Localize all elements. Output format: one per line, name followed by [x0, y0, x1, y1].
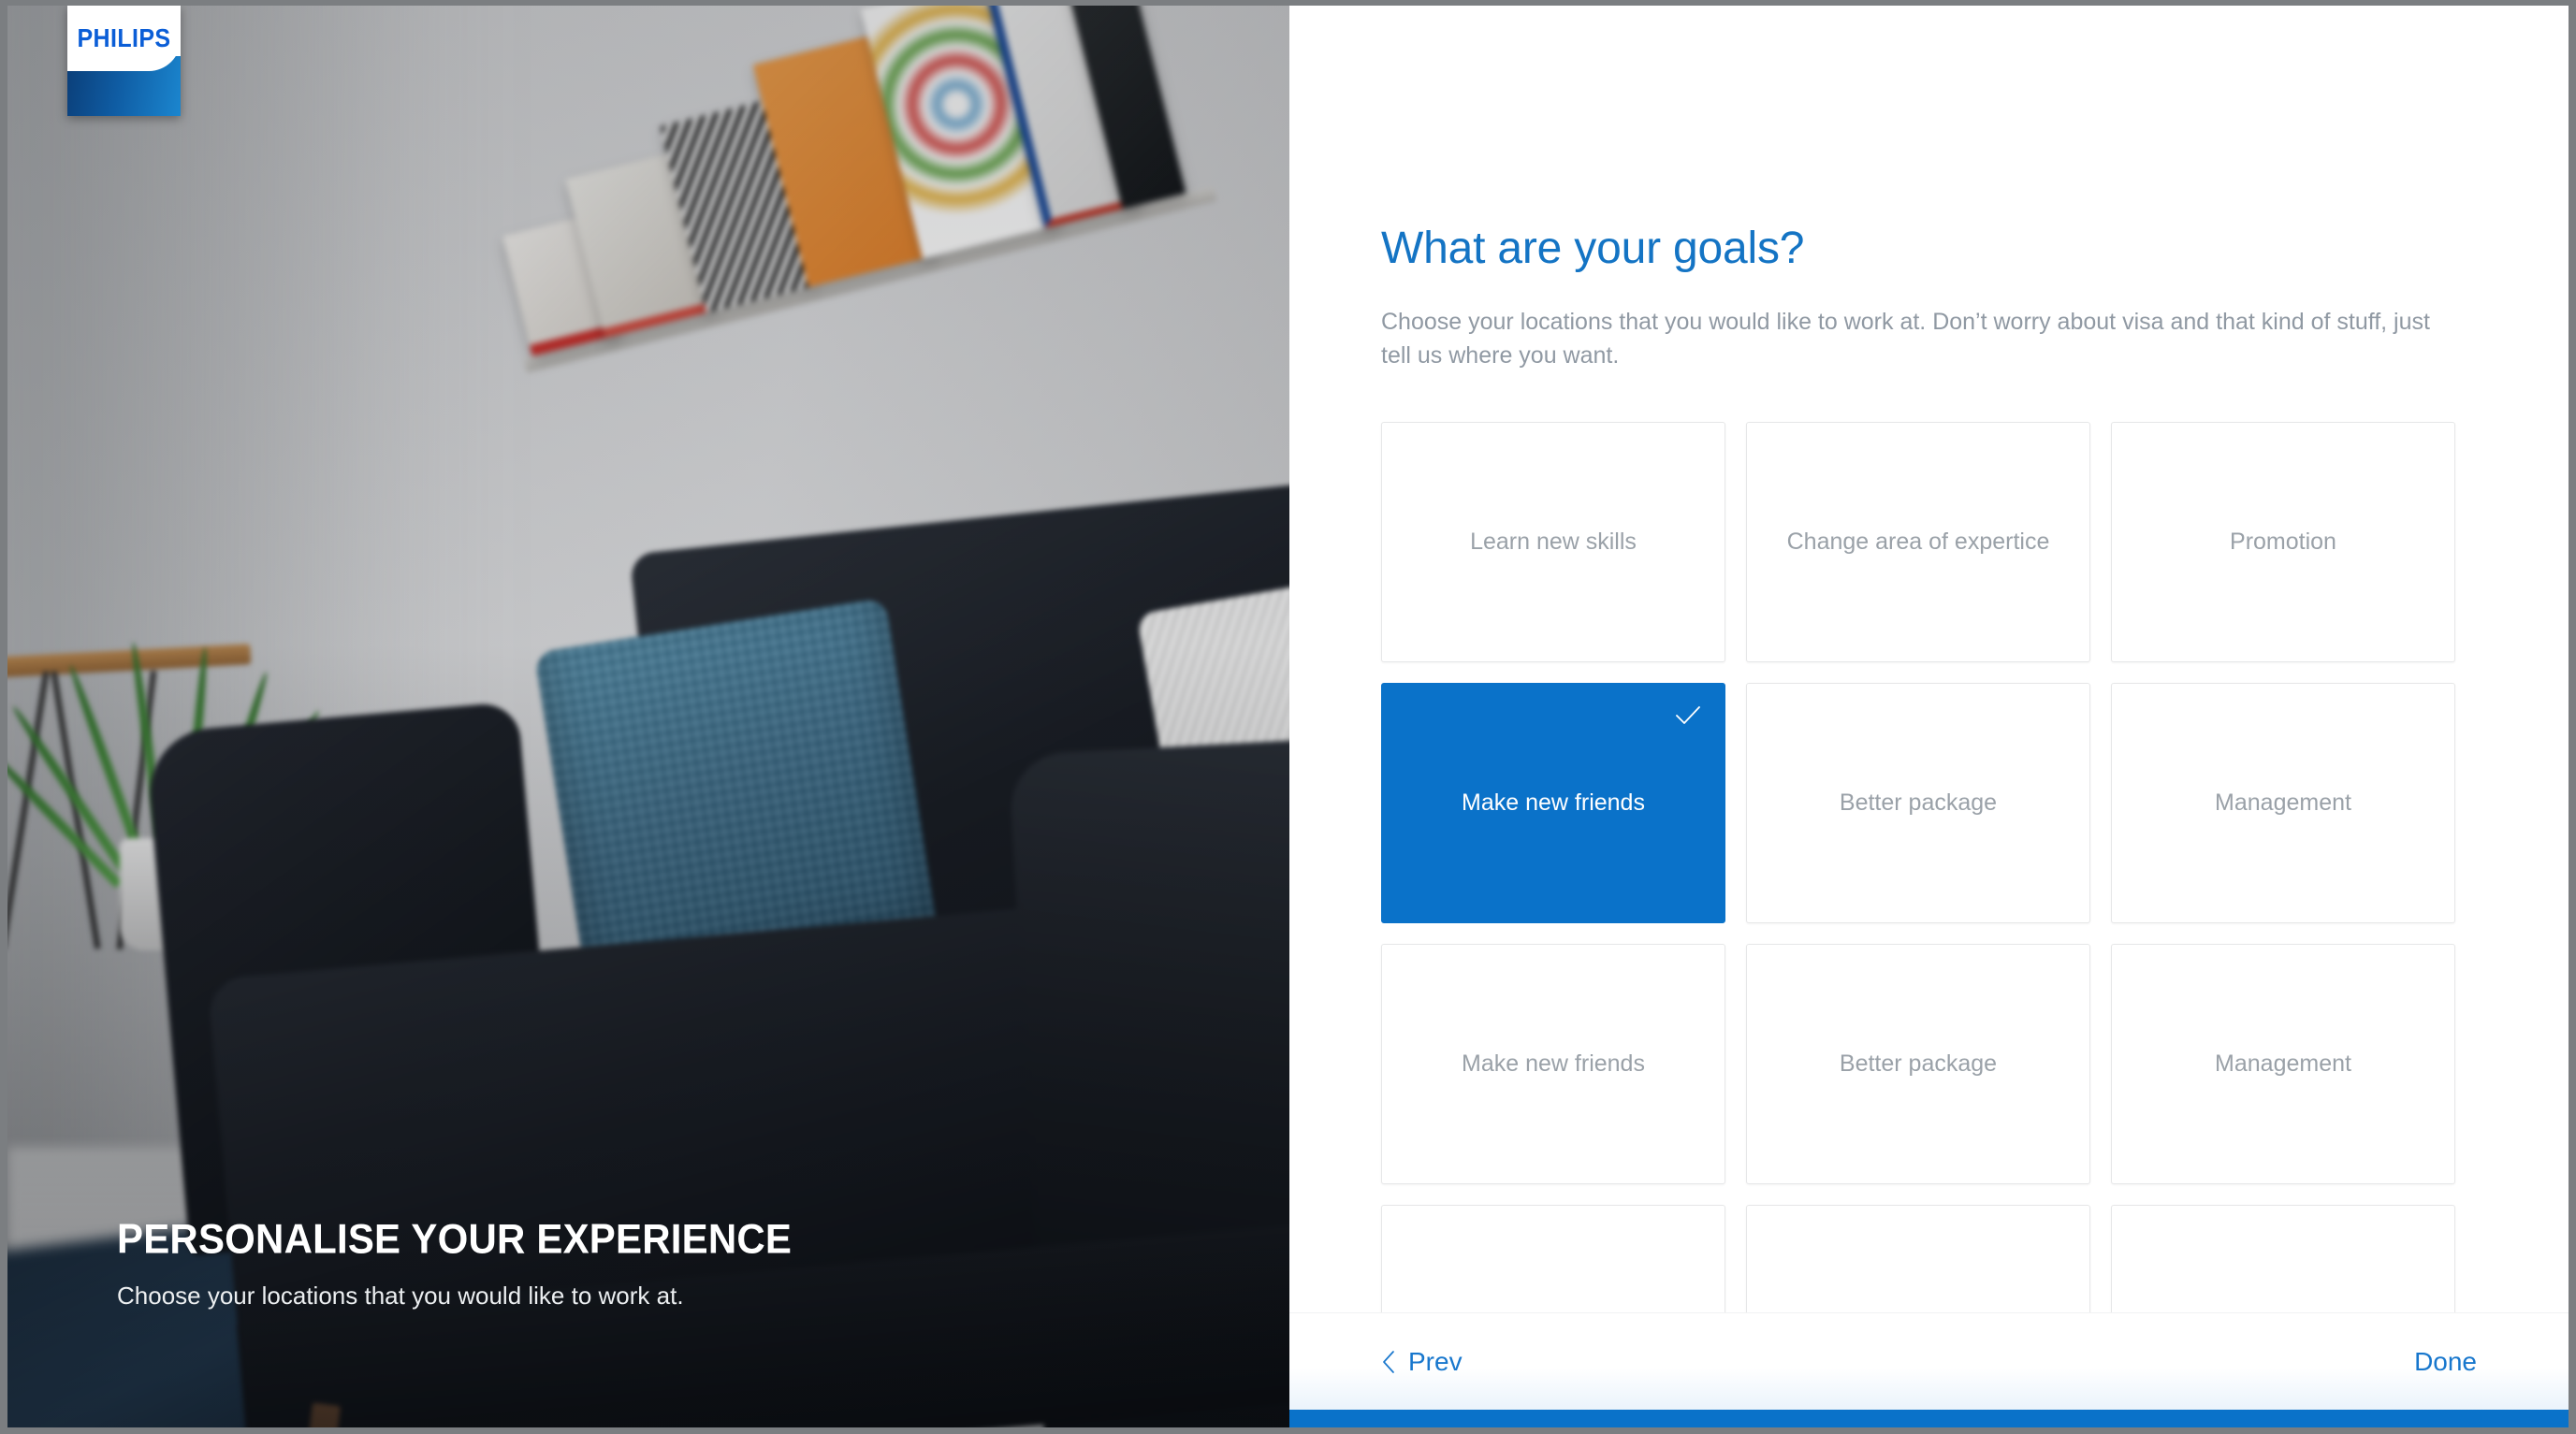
goals-grid: Learn new skillsChange area of expertice…	[1381, 422, 2459, 1313]
goal-card[interactable]: Make new friends	[1381, 683, 1725, 923]
prev-button-label: Prev	[1408, 1347, 1463, 1377]
goal-card-label: Make new friends	[1439, 1048, 1667, 1081]
check-icon	[1672, 701, 1704, 732]
goal-card[interactable]: Learn new skills	[1381, 422, 1725, 662]
goals-scroll-area[interactable]: What are your goals? Choose your locatio…	[1289, 6, 2569, 1313]
footer-actions: Prev Done	[1381, 1313, 2477, 1411]
goal-card-label: Better package	[1817, 1048, 2019, 1081]
goals-panel: What are your goals? Choose your locatio…	[1289, 6, 2569, 1427]
prev-button[interactable]: Prev	[1381, 1347, 1463, 1377]
philips-logo: PHILIPS	[67, 6, 181, 116]
hero-subtitle: Choose your locations that you would lik…	[117, 1282, 792, 1311]
goal-card[interactable]: Make new friends	[1381, 944, 1725, 1184]
hero-overlay-gradient	[7, 6, 1289, 1427]
goal-card-label: Better package	[1817, 787, 2019, 820]
goal-card[interactable]: Change area of expertice	[1746, 422, 2090, 662]
goal-card-label: Management	[2192, 1048, 2374, 1081]
page-subtitle: Choose your locations that you would lik…	[1381, 306, 2448, 372]
hero-panel: PHILIPS PERSONALISE YOUR EXPERIENCE Choo…	[7, 6, 1289, 1427]
goal-card[interactable]: Promotion	[2111, 422, 2455, 662]
hero-text-block: PERSONALISE YOUR EXPERIENCE Choose your …	[117, 1218, 792, 1311]
philips-logo-wordmark: PHILIPS	[77, 23, 170, 53]
page-title: What are your goals?	[1381, 223, 2569, 274]
app-screen: PHILIPS PERSONALISE YOUR EXPERIENCE Choo…	[0, 0, 2576, 1434]
goal-card-label: Promotion	[2207, 526, 2359, 559]
hero-title: PERSONALISE YOUR EXPERIENCE	[117, 1215, 792, 1263]
goals-header: What are your goals? Choose your locatio…	[1289, 6, 2569, 372]
goal-card-label: Make new friends	[1439, 787, 1667, 820]
goal-card-label: Management	[2192, 787, 2374, 820]
chevron-left-icon	[1381, 1350, 1396, 1374]
progress-bar	[1289, 1410, 2569, 1427]
hero-photograph	[7, 6, 1289, 1427]
goal-card[interactable]: Better package	[1746, 683, 2090, 923]
goal-card[interactable]	[1381, 1205, 1725, 1313]
goal-card[interactable]	[2111, 1205, 2455, 1313]
goal-card-label: Change area of expertice	[1765, 526, 2073, 559]
onboarding-stage: PHILIPS PERSONALISE YOUR EXPERIENCE Choo…	[7, 6, 2569, 1427]
philips-logo-wordmark-area: PHILIPS	[67, 6, 181, 71]
goal-card-label: Learn new skills	[1448, 526, 1659, 559]
goal-card[interactable]: Management	[2111, 683, 2455, 923]
wizard-footer: Prev Done	[1289, 1312, 2569, 1427]
goal-card[interactable]	[1746, 1205, 2090, 1313]
goal-card[interactable]: Management	[2111, 944, 2455, 1184]
done-button[interactable]: Done	[2414, 1347, 2477, 1377]
goal-card[interactable]: Better package	[1746, 944, 2090, 1184]
